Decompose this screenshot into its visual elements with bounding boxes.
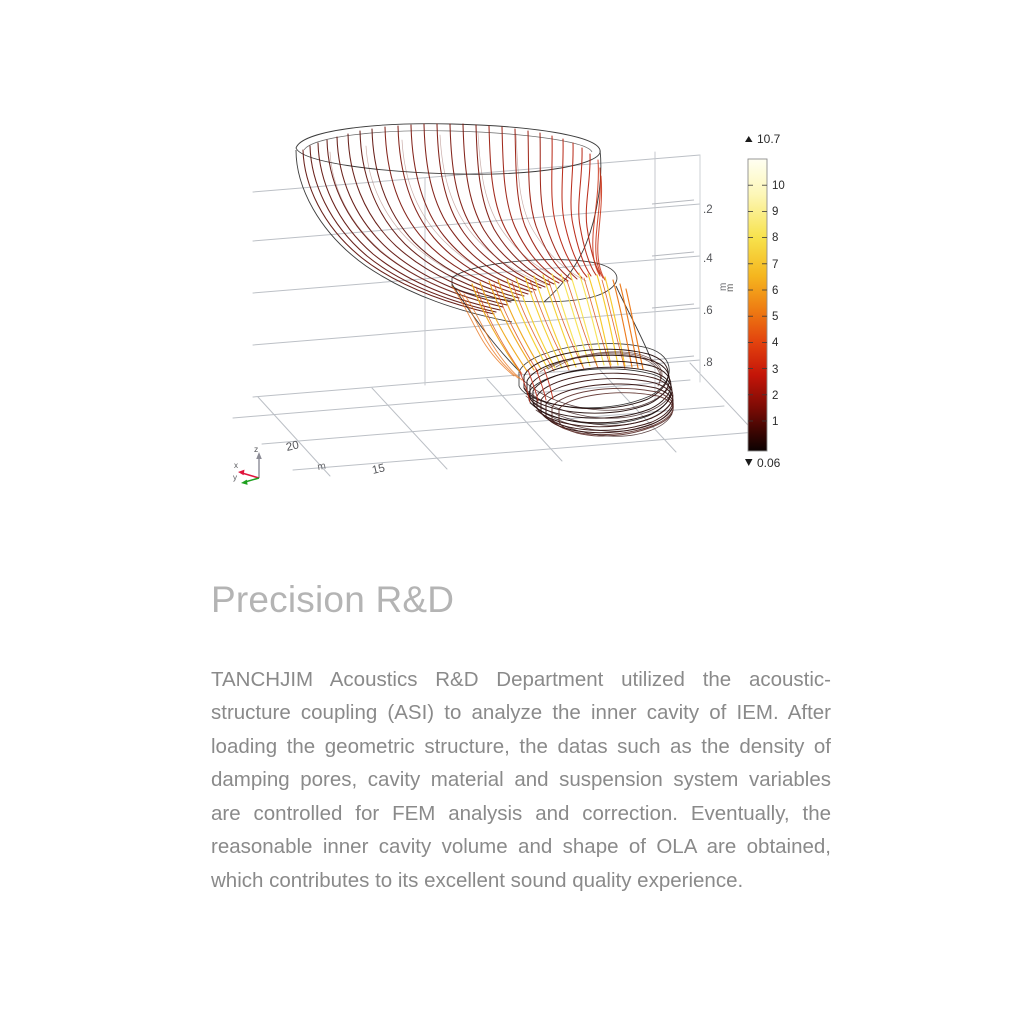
colorbar-tick-2: 2 (772, 390, 778, 402)
page-title: Precision R&D (211, 580, 831, 621)
z-tick-2: .4 (703, 253, 713, 265)
colorbar-tick-4: 4 (772, 337, 779, 349)
colorbar-tick-8: 8 (772, 232, 778, 244)
z-tick-1: .2 (703, 204, 713, 216)
colorbar-min-marker (745, 459, 753, 466)
colorbar-max-label: 10.7 (757, 132, 781, 146)
colorbar-tick-9: 9 (772, 206, 778, 218)
axis-triad: z x y (233, 444, 262, 485)
colorbar-tick-3: 3 (772, 364, 778, 376)
z-axis: .2 .4 .6 .8 m (652, 200, 729, 369)
floor-axis-unit: m (317, 461, 327, 473)
streamline-plot: .2 .4 .6 .8 m 20 15 m z x y (0, 0, 1024, 520)
colorbar-gradient (748, 159, 767, 451)
triad-y-label: y (233, 473, 237, 482)
triad-x-label: x (234, 461, 238, 470)
colorbar: 10.7 (725, 132, 785, 470)
colorbar-min-label: 0.06 (757, 456, 781, 470)
z-tick-4: .8 (703, 357, 713, 369)
colorbar-unit: m (725, 284, 736, 292)
colorbar-tick-7: 7 (772, 259, 778, 271)
text-content: Precision R&D TANCHJIM Acoustics R&D Dep… (211, 580, 831, 897)
body-paragraph: TANCHJIM Acoustics R&D Department utiliz… (211, 663, 831, 898)
floor-tick-2: 15 (371, 462, 386, 477)
z-tick-3: .6 (703, 305, 713, 317)
triad-z-label: z (254, 444, 258, 454)
simulation-figure: .2 .4 .6 .8 m 20 15 m z x y (0, 0, 1024, 520)
colorbar-tick-5: 5 (772, 311, 778, 323)
colorbar-tick-10: 10 (772, 180, 785, 192)
floor-tick-1: 20 (285, 439, 300, 454)
colorbar-tick-6: 6 (772, 285, 778, 297)
colorbar-tick-1: 1 (772, 416, 778, 428)
colorbar-max-marker (745, 136, 753, 142)
floor-axis: 20 15 m (285, 439, 386, 477)
